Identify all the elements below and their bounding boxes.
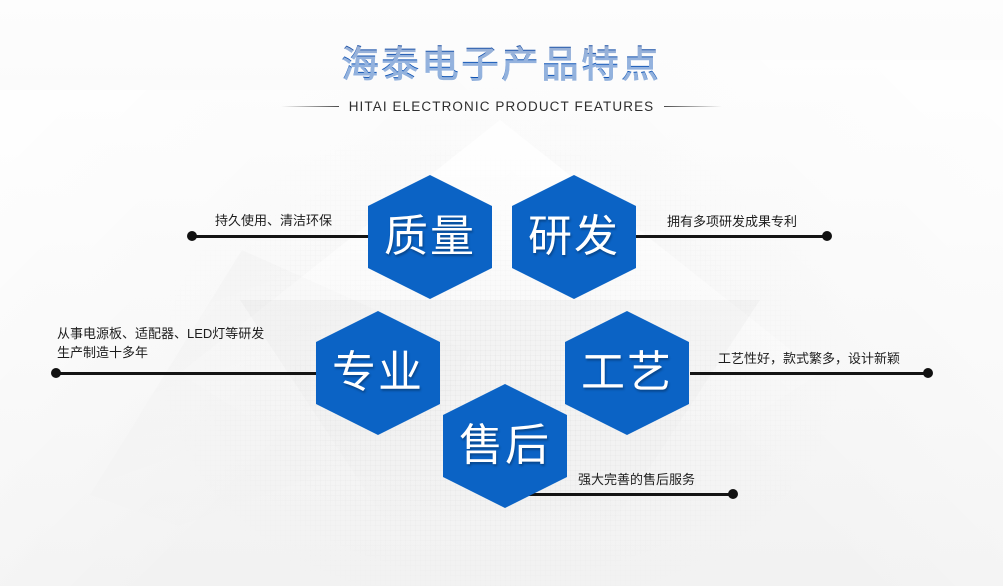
facet-right [403,60,1003,586]
connector-line-quality [192,235,392,238]
subtitle-row: HITAI ELECTRONIC PRODUCT FEATURES [0,99,1003,114]
subtitle-rule-left [281,106,339,107]
connector-line-craft [690,372,930,375]
connector-dot-quality [187,231,197,241]
connector-line-professional [56,372,348,375]
page-title: 海泰电子产品特点 [0,42,1003,88]
hexagon-label-craft: 工艺 [581,351,673,395]
hexagon-aftersales[interactable]: 售后 [443,384,567,508]
connector-dot-craft [923,368,933,378]
hexagon-label-professional: 专业 [332,351,424,395]
hexagon-label-rnd: 研发 [528,215,620,259]
connector-dot-rnd [822,231,832,241]
hexagon-professional[interactable]: 专业 [316,311,440,435]
connector-dot-aftersales [728,489,738,499]
hexagon-label-aftersales: 售后 [459,424,551,468]
caption-quality: 持久使用、清洁环保 [215,211,332,231]
infographic-stage: 海泰电子产品特点 HITAI ELECTRONIC PRODUCT FEATUR… [0,0,1003,586]
caption-professional-line1: 从事电源板、适配器、LED灯等研发 [57,325,264,344]
hexagon-label-quality: 质量 [384,215,476,259]
page-header: 海泰电子产品特点 HITAI ELECTRONIC PRODUCT FEATUR… [0,42,1003,114]
facet-lower-left [90,250,470,586]
caption-rnd: 拥有多项研发成果专利 [667,212,797,232]
caption-aftersales: 强大完善的售后服务 [578,470,695,490]
page-subtitle: HITAI ELECTRONIC PRODUCT FEATURES [349,99,655,114]
hexagon-quality[interactable]: 质量 [368,175,492,299]
connector-line-aftersales [504,493,735,496]
hexagon-rnd[interactable]: 研发 [512,175,636,299]
connector-line-rnd [632,235,828,238]
subtitle-rule-right [664,106,722,107]
caption-professional: 从事电源板、适配器、LED灯等研发 生产制造十多年 [57,325,264,363]
caption-craft: 工艺性好，款式繁多，设计新颖 [718,349,900,369]
hexagon-craft[interactable]: 工艺 [565,311,689,435]
connector-dot-professional [51,368,61,378]
caption-professional-line2: 生产制造十多年 [57,344,264,363]
